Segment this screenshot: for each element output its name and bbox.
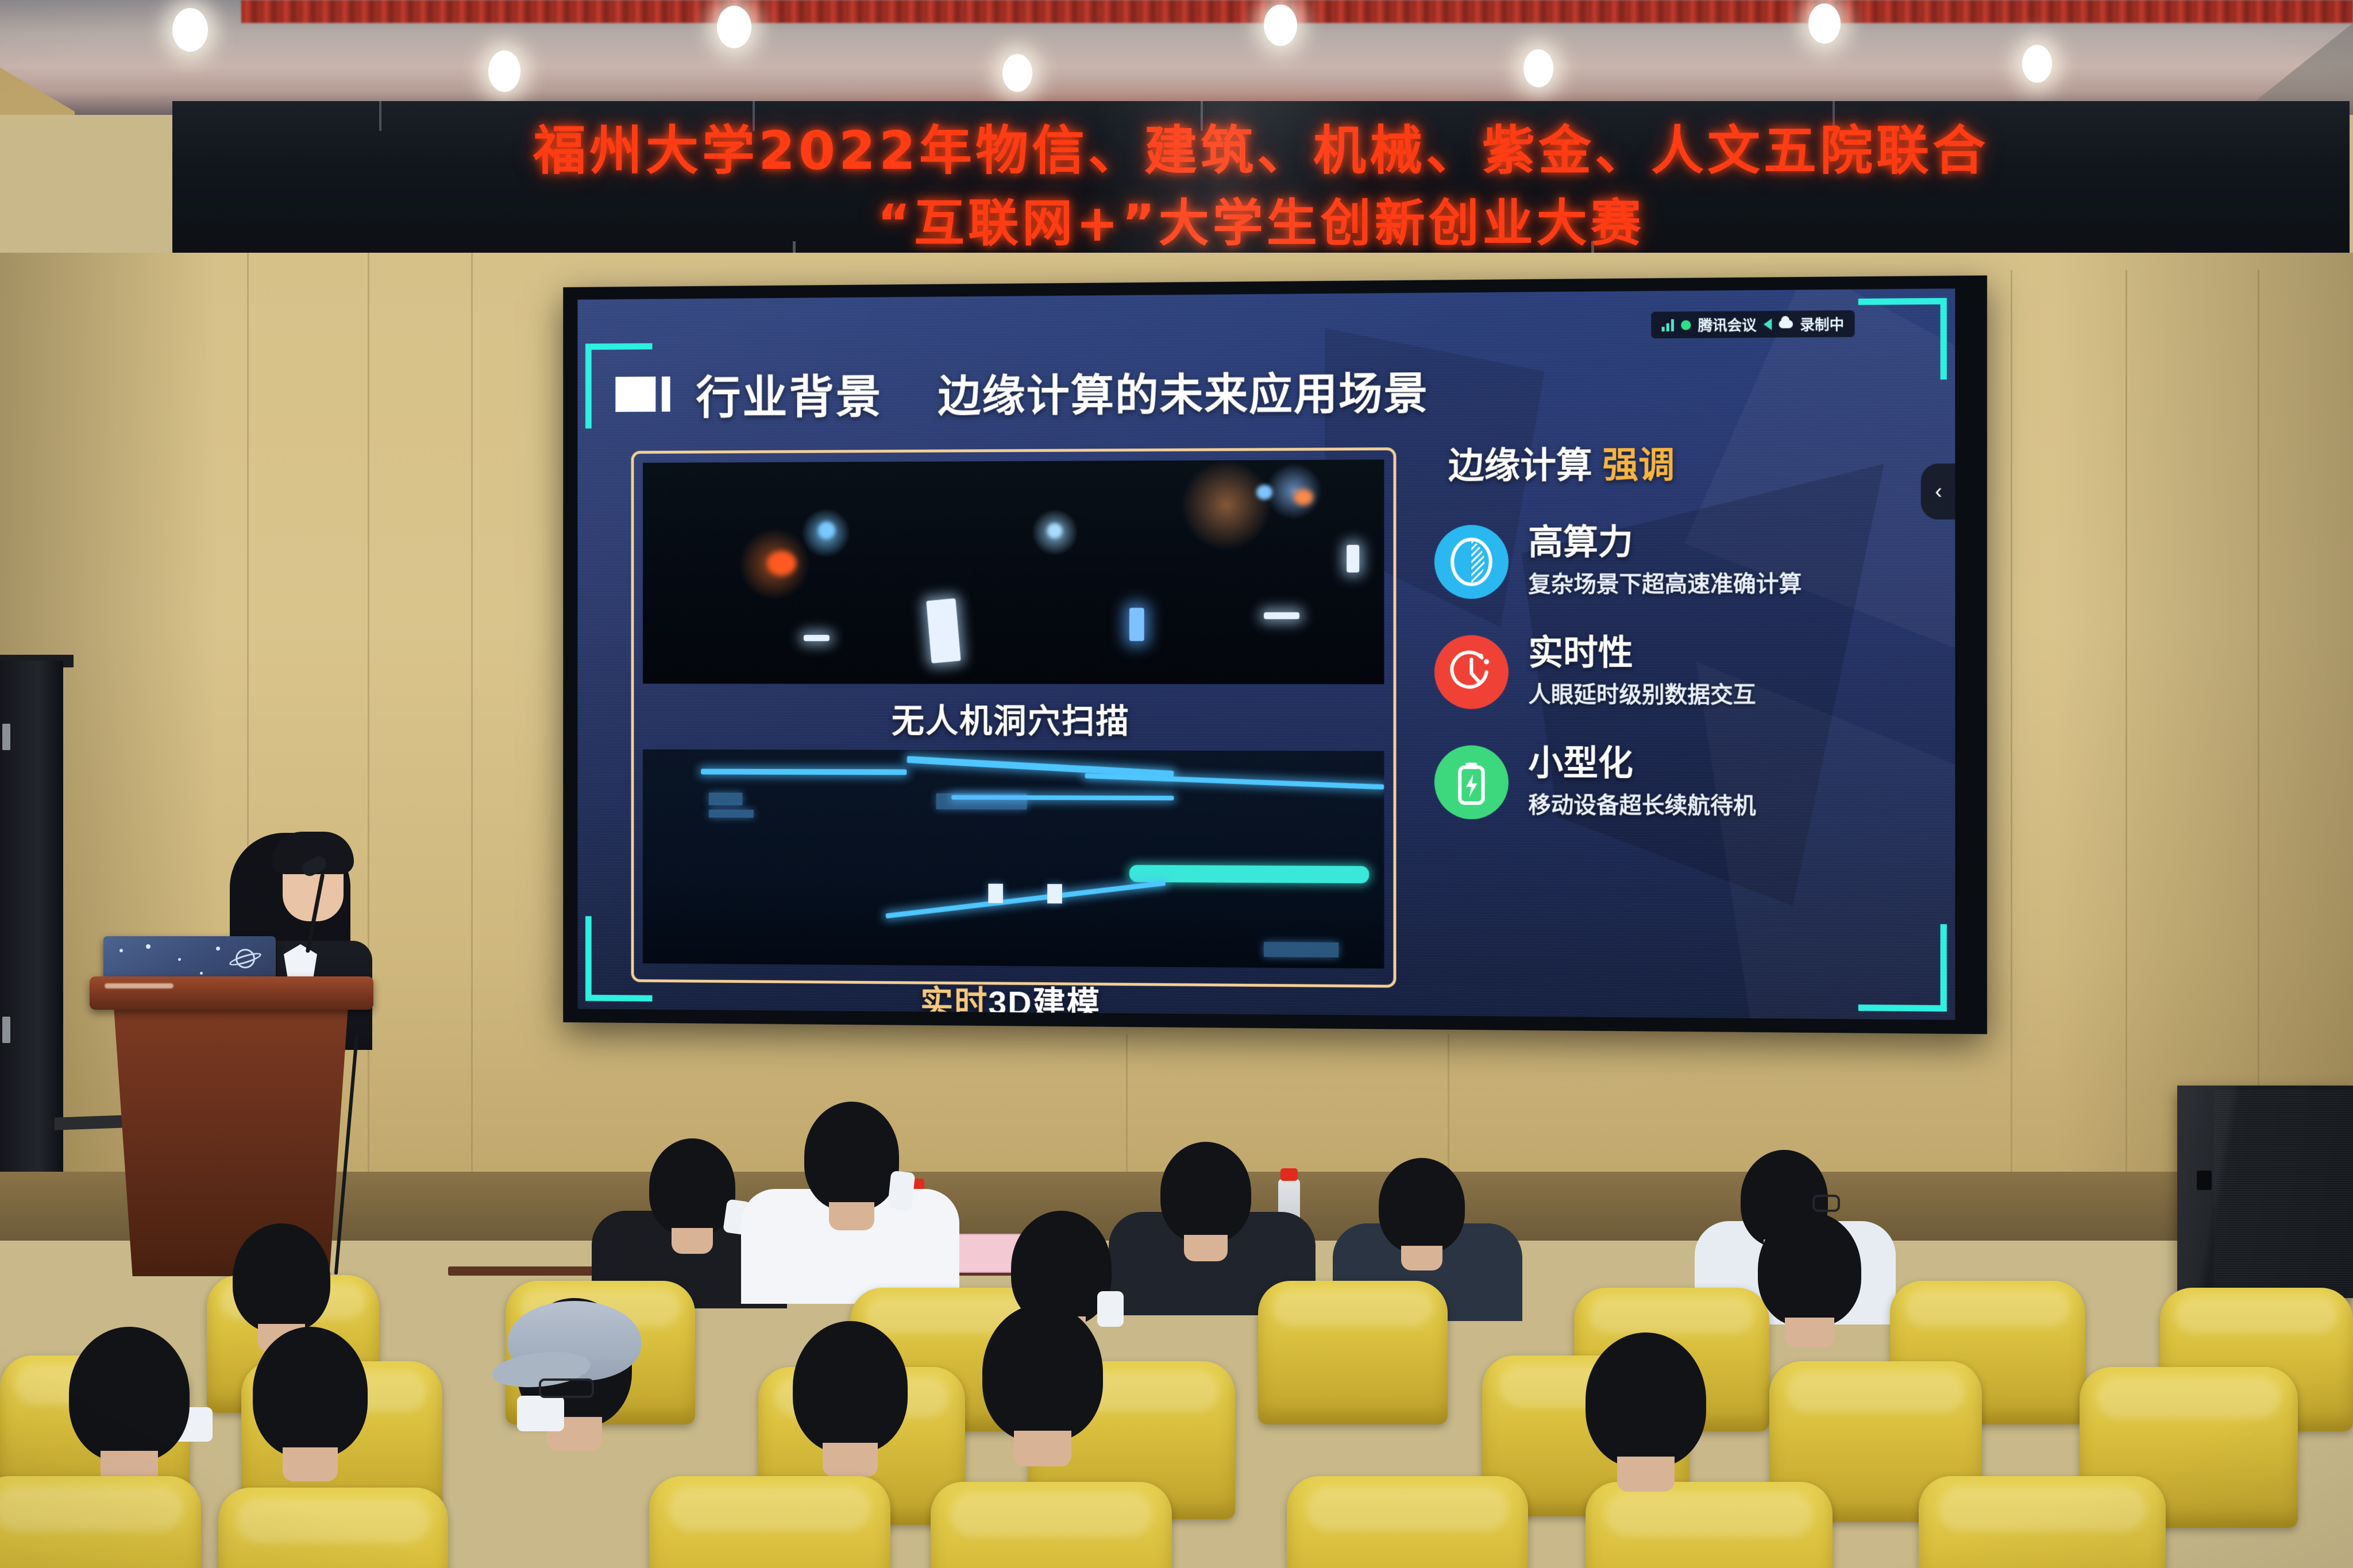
ceiling-red-valance (241, 0, 2353, 23)
chair (218, 1488, 448, 1568)
feature-text: 高算力 复杂场景下超高速准确计算 (1528, 523, 1802, 598)
sticker-star (146, 944, 151, 949)
cave-light (1256, 485, 1272, 500)
feature-text: 实时性 人眼延时级别数据交互 (1528, 635, 1756, 709)
attendee-head (1160, 1142, 1251, 1243)
features-column: 边缘计算 强调 高算力 复杂场景下超高速准确计算 (1434, 434, 1926, 821)
cave-light-streak (1264, 612, 1299, 619)
cave-light-streak (804, 635, 830, 642)
media-frame: 无人机洞穴扫描 (631, 447, 1397, 988)
cave-light-streak (1129, 608, 1144, 642)
chair (1287, 1476, 1528, 1568)
wall-seam (2011, 270, 2012, 1183)
banner-glare (172, 101, 2350, 264)
scan-block (988, 884, 1003, 903)
attendee-head (649, 1138, 735, 1236)
feature-item-high-compute: 高算力 复杂场景下超高速准确计算 (1434, 523, 1926, 599)
slide-title-main: 行业背景 (696, 360, 882, 427)
chevron-left-icon[interactable]: ‹ (1921, 464, 1955, 520)
presentation-slide: 行业背景 边缘计算的未来应用场景 腾讯会议 录制中 ‹ (577, 288, 1955, 1019)
contrast-circle-icon (1434, 524, 1509, 598)
cave-light (767, 551, 796, 576)
sticker-star (200, 972, 203, 975)
scan-line (701, 768, 907, 775)
caption-rest: 3D建模 (988, 984, 1101, 1019)
feature-title: 实时性 (1528, 635, 1756, 671)
attendee-head (69, 1327, 190, 1462)
attendee-head (1758, 1212, 1861, 1327)
chair (1919, 1476, 2166, 1568)
auditorium-photo: 福州大学2022年物信、建筑、机械、紫金、人文五院联合 “互联网+”大学生创新创… (0, 0, 2353, 1568)
feature-title: 小型化 (1528, 745, 1756, 782)
corner-bracket-bottom-right (1858, 924, 1947, 1011)
corner-bracket-top-right (1858, 298, 1947, 380)
event-led-banner: 福州大学2022年物信、建筑、机械、紫金、人文五院联合 “互联网+”大学生创新创… (172, 101, 2350, 268)
cave-light-streak (927, 598, 961, 663)
downlight-icon (717, 6, 751, 48)
caption-accent: 实时 (920, 984, 988, 1020)
emphasis-heading: 边缘计算 强调 (1448, 434, 1926, 488)
downlight-icon (488, 51, 520, 92)
attendee-head (233, 1223, 330, 1333)
scan-line (907, 756, 1174, 778)
green-dot-icon (1681, 320, 1691, 330)
scan-line (1085, 773, 1384, 790)
feature-text: 小型化 移动设备超长续航待机 (1528, 745, 1756, 820)
face-mask (888, 1171, 916, 1211)
meeting-app-label: 腾讯会议 (1698, 314, 1757, 335)
cave-light-streak (1347, 545, 1359, 573)
recording-label: 录制中 (1800, 313, 1844, 334)
scan-block (708, 809, 753, 817)
scan-line (1129, 865, 1369, 883)
downlight-icon (1264, 5, 1297, 46)
chair (0, 1476, 201, 1568)
downlight-icon (1002, 54, 1032, 92)
cave-light (1294, 489, 1313, 505)
eyeglasses (1812, 1195, 1840, 1212)
scan-scene (643, 750, 1384, 969)
stopwatch-icon (1434, 635, 1509, 709)
bottle-cap (1280, 1168, 1298, 1181)
downlight-icon (2022, 45, 2052, 83)
sticker-star (178, 958, 181, 961)
feature-title: 高算力 (1528, 523, 1802, 561)
attendee-head (804, 1102, 899, 1211)
ceiling (0, 0, 2353, 115)
emphasis-word: 强调 (1602, 446, 1675, 486)
meeting-status-bar: 腾讯会议 录制中 (1651, 310, 1854, 338)
seated-audience-rows (0, 1109, 2353, 1568)
media-caption-2: 实时3D建模 (643, 974, 1384, 1019)
chair (649, 1476, 890, 1568)
cave-light (1047, 523, 1062, 538)
emphasis-prefix: 边缘计算 (1448, 446, 1592, 486)
cave-light (819, 522, 835, 539)
signal-bars-icon (1662, 319, 1674, 331)
wall-seam (471, 253, 473, 1183)
attendee-head (982, 1304, 1103, 1442)
slide-title-row: 行业背景 边缘计算的未来应用场景 (615, 356, 1428, 427)
cloud-icon (1779, 320, 1793, 328)
wall-shading (2054, 253, 2353, 1183)
podium-top (90, 976, 373, 1010)
feature-desc: 人眼延时级别数据交互 (1528, 677, 1756, 709)
chair (931, 1482, 1172, 1568)
feature-item-miniaturization: 小型化 移动设备超长续航待机 (1434, 745, 1926, 821)
chair (1586, 1482, 1833, 1568)
attendee-head (1586, 1333, 1706, 1467)
eyeglasses (539, 1378, 594, 1398)
battery-bolt-icon (1434, 745, 1509, 819)
media-caption-1: 无人机洞穴扫描 (643, 694, 1384, 743)
scan-block (708, 793, 742, 805)
feature-desc: 移动设备超长续航待机 (1528, 787, 1756, 820)
chair (1258, 1281, 1448, 1424)
attendee-head (1379, 1158, 1465, 1253)
slide-title-sub: 边缘计算的未来应用场景 (938, 358, 1429, 424)
face-mask (517, 1396, 564, 1431)
downlight-icon (1523, 49, 1553, 87)
scan-block (1047, 884, 1062, 903)
projection-screen: 行业背景 边缘计算的未来应用场景 腾讯会议 录制中 ‹ (563, 276, 1987, 1034)
realtime-3d-model-photo (643, 750, 1384, 969)
downlight-icon (172, 8, 208, 52)
scan-block (936, 793, 1027, 809)
downlight-icon (1808, 3, 1841, 44)
scan-block (1264, 942, 1338, 957)
attendee-head (793, 1321, 908, 1453)
feature-item-realtime: 实时性 人眼延时级别数据交互 (1434, 634, 1926, 709)
cave-scene (643, 459, 1384, 684)
sticker-star (119, 949, 123, 952)
scan-line (885, 880, 1166, 918)
feature-desc: 复杂场景下超高速准确计算 (1528, 566, 1802, 598)
attendee-head (253, 1327, 368, 1458)
speaker-icon (1764, 318, 1772, 330)
sticker-star (216, 947, 220, 951)
door-hinge (2, 724, 10, 750)
drone-cave-scan-photo (643, 459, 1384, 684)
door-hinge (2, 1017, 10, 1043)
title-marker-icon (615, 376, 670, 412)
